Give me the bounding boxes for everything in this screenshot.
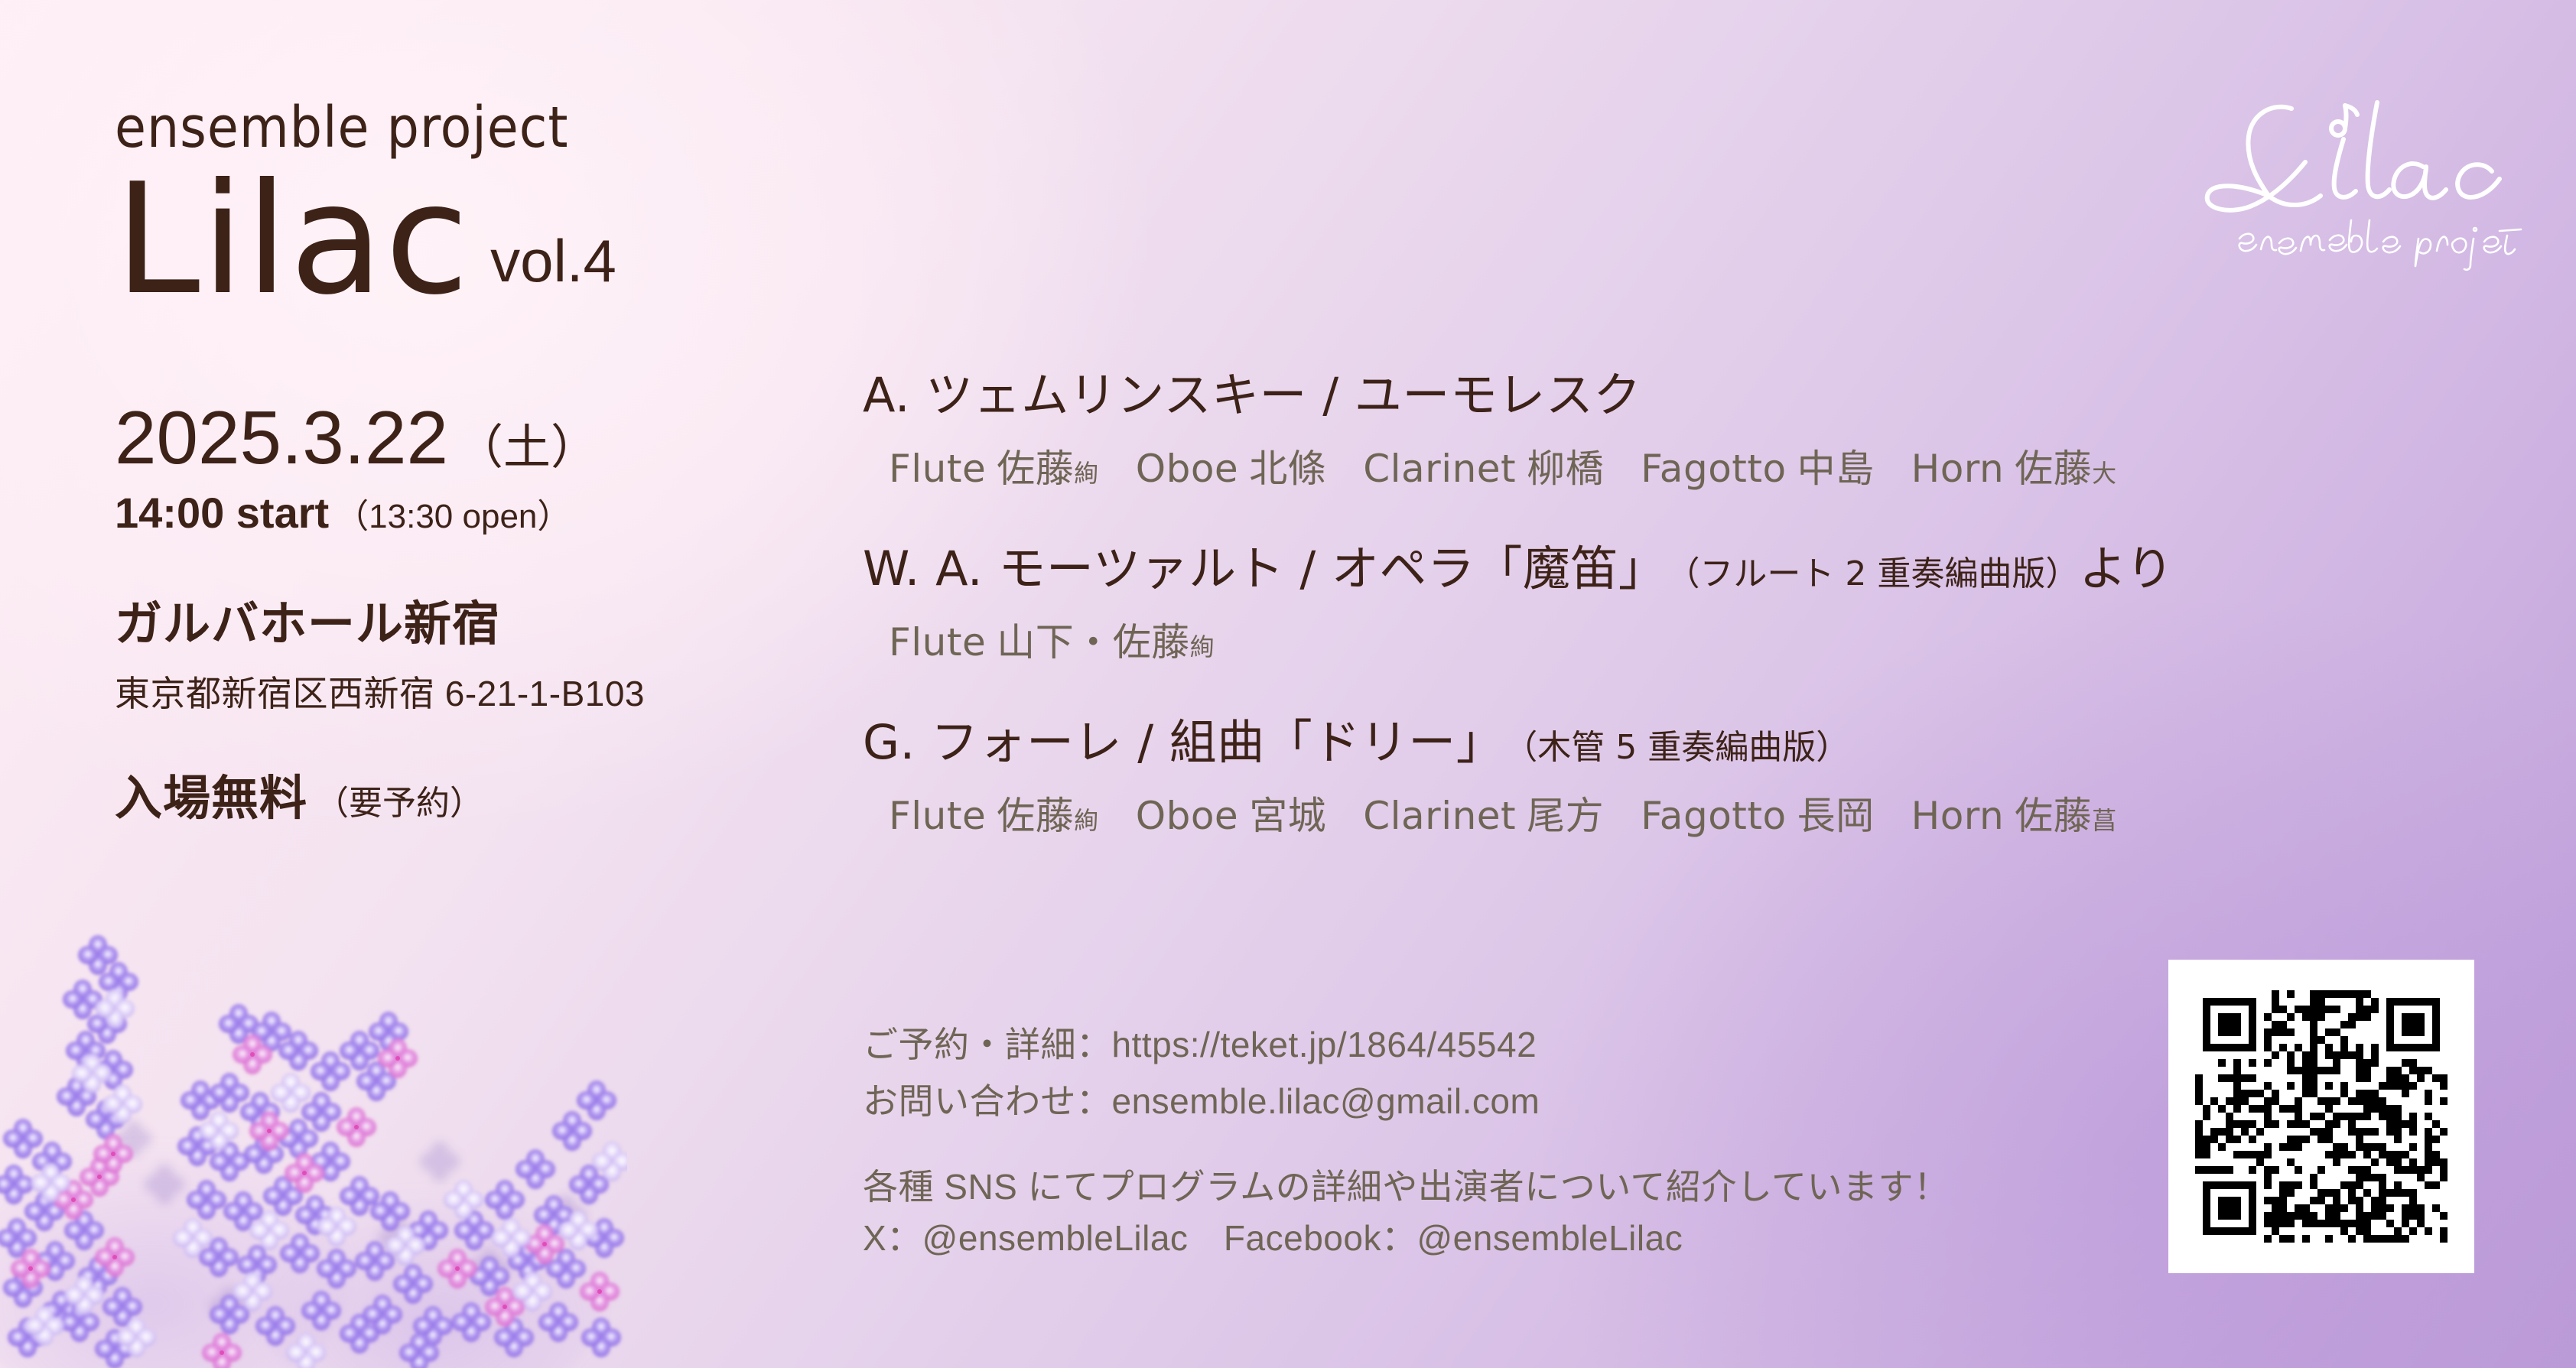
- piece-title-tail: より: [2079, 541, 2174, 596]
- piece-work: フォーレ / 組曲「ドリー」: [931, 714, 1504, 770]
- performer-role: Oboe: [1136, 447, 1238, 491]
- piece-composer: W. A.: [863, 541, 983, 596]
- performer: Clarinet 尾方: [1363, 785, 1604, 840]
- performer-role: Horn: [1911, 447, 2005, 491]
- date-block: 2025.3.22 （土） 14:00 start （13:30 open）: [115, 398, 803, 538]
- performer: Clarinet 柳橋: [1363, 438, 1604, 493]
- lilac-flowers-illustration: [0, 909, 627, 1368]
- performer-name-sub: 大: [2092, 454, 2117, 489]
- performer-name: 佐藤: [2015, 785, 2092, 840]
- admission-note: （要予約）: [315, 775, 483, 824]
- event-date: 2025.3.22: [115, 398, 448, 477]
- performer-role: Flute: [889, 620, 986, 665]
- performer-role: Flute: [889, 794, 986, 838]
- inquiry-line[interactable]: お問い合わせ：ensemble.lilac@gmail.com: [863, 1077, 2316, 1125]
- performer-list: Flute 山下・佐藤 絢: [889, 612, 2438, 667]
- venue-address: 東京都新宿区西新宿 6-21-1-B103: [115, 666, 803, 716]
- performer-name: 佐藤: [997, 438, 1074, 493]
- piece-composer: A.: [863, 367, 910, 423]
- event-open-time: （13:30 open）: [335, 489, 571, 538]
- piece-work: ツェムリンスキー / ユーモレスク: [925, 367, 1641, 423]
- performer-name: 佐藤: [2015, 438, 2092, 493]
- performer: Fagotto 長岡: [1641, 785, 1874, 840]
- contact-block: ご予約・詳細：https://teket.jp/1864/45542 お問い合わ…: [863, 1021, 2316, 1264]
- piece-work: モーツァルト / オペラ「魔笛」: [998, 541, 1666, 596]
- performer: Flute 佐藤 絢: [889, 438, 1099, 493]
- performer-name: 尾方: [1527, 785, 1604, 840]
- concert-flyer: ensemble project Lilac vol.4 2025.3.22 （…: [0, 0, 2576, 1368]
- reservation-line[interactable]: ご予約・詳細：https://teket.jp/1864/45542: [863, 1021, 2316, 1068]
- performer-name: 柳橋: [1527, 438, 1604, 493]
- performer-name: 長岡: [1797, 785, 1875, 840]
- admission-price: 入場無料: [115, 759, 307, 828]
- performer-name: 佐藤: [997, 785, 1074, 840]
- performer-role: Fagotto: [1641, 447, 1786, 491]
- performer-name-sub: 絢: [1074, 454, 1099, 489]
- performer-name-sub: 絢: [1074, 801, 1099, 837]
- brand-kicker: ensemble project: [115, 99, 803, 156]
- event-day-of-week: （土）: [456, 408, 598, 477]
- performer-list: Flute 佐藤 絢 Oboe 北條 Clarinet 柳橋 Fagotto 中…: [889, 438, 2438, 493]
- performer: Fagotto 中島: [1641, 438, 1874, 493]
- program-item: G. フォーレ / 組曲「ドリー」 （木管 5 重奏編曲版） Flute 佐藤 …: [863, 714, 2438, 840]
- performer: Flute 山下・佐藤 絢: [889, 612, 1215, 667]
- performer: Horn 佐藤 大: [1911, 438, 2117, 493]
- performer-name: 北條: [1249, 438, 1326, 493]
- performer-role: Oboe: [1136, 794, 1238, 838]
- performer-role: Clarinet: [1363, 447, 1516, 491]
- lilac-logo: [2194, 92, 2522, 268]
- performer: Horn 佐藤 菖: [1911, 785, 2117, 840]
- date-line: 2025.3.22 （土）: [115, 398, 803, 477]
- performer: Oboe 宮城: [1136, 785, 1326, 840]
- page-title: Lilac: [115, 170, 470, 310]
- volume-label: vol.4: [490, 231, 616, 291]
- sns-accounts[interactable]: X：@ensembleLilac Facebook：@ensembleLilac: [863, 1213, 2316, 1264]
- sns-block: 各種 SNS にてプログラムの詳細や出演者について紹介しています！ X：@ens…: [863, 1162, 2316, 1263]
- left-info-column: ensemble project Lilac vol.4 2025.3.22 （…: [115, 99, 803, 828]
- sns-intro: 各種 SNS にてプログラムの詳細や出演者について紹介しています！: [863, 1162, 2316, 1213]
- piece-composer: G.: [863, 714, 916, 770]
- piece-title: W. A. モーツァルト / オペラ「魔笛」 （フルート 2 重奏編曲版） より: [863, 541, 2438, 596]
- performer: Oboe 北條: [1136, 438, 1326, 493]
- program-item: A. ツェムリンスキー / ユーモレスク Flute 佐藤 絢 Oboe 北條 …: [863, 367, 2438, 493]
- venue-block: ガルバホール新宿 東京都新宿区西新宿 6-21-1-B103: [115, 585, 803, 716]
- piece-arrangement-note: （フルート 2 重奏編曲版）: [1666, 554, 2079, 594]
- time-line: 14:00 start （13:30 open）: [115, 488, 803, 538]
- program-item: W. A. モーツァルト / オペラ「魔笛」 （フルート 2 重奏編曲版） より…: [863, 541, 2438, 667]
- performer-role: Clarinet: [1363, 794, 1516, 838]
- performer-role: Fagotto: [1641, 794, 1786, 838]
- performer-name: 山下・佐藤: [997, 612, 1190, 667]
- qr-code[interactable]: [2168, 960, 2474, 1273]
- event-start-time: 14:00 start: [115, 488, 329, 538]
- piece-arrangement-note: （木管 5 重奏編曲版）: [1504, 728, 1849, 768]
- performer-name: 宮城: [1249, 785, 1326, 840]
- program-list: A. ツェムリンスキー / ユーモレスク Flute 佐藤 絢 Oboe 北條 …: [863, 367, 2438, 888]
- performer-name-sub: 菖: [2092, 801, 2117, 837]
- price-block: 入場無料 （要予約）: [115, 759, 803, 828]
- performer-role: Flute: [889, 447, 986, 491]
- performer: Flute 佐藤 絢: [889, 785, 1099, 840]
- performer-list: Flute 佐藤 絢 Oboe 宮城 Clarinet 尾方 Fagotto 長…: [889, 785, 2438, 840]
- venue-name: ガルバホール新宿: [115, 585, 803, 654]
- performer-name-sub: 絢: [1190, 628, 1215, 663]
- piece-title: G. フォーレ / 組曲「ドリー」 （木管 5 重奏編曲版）: [863, 714, 2438, 770]
- performer-name: 中島: [1797, 438, 1875, 493]
- performer-role: Horn: [1911, 794, 2005, 838]
- piece-title: A. ツェムリンスキー / ユーモレスク: [863, 367, 2438, 423]
- brand-title-row: Lilac vol.4: [115, 170, 803, 310]
